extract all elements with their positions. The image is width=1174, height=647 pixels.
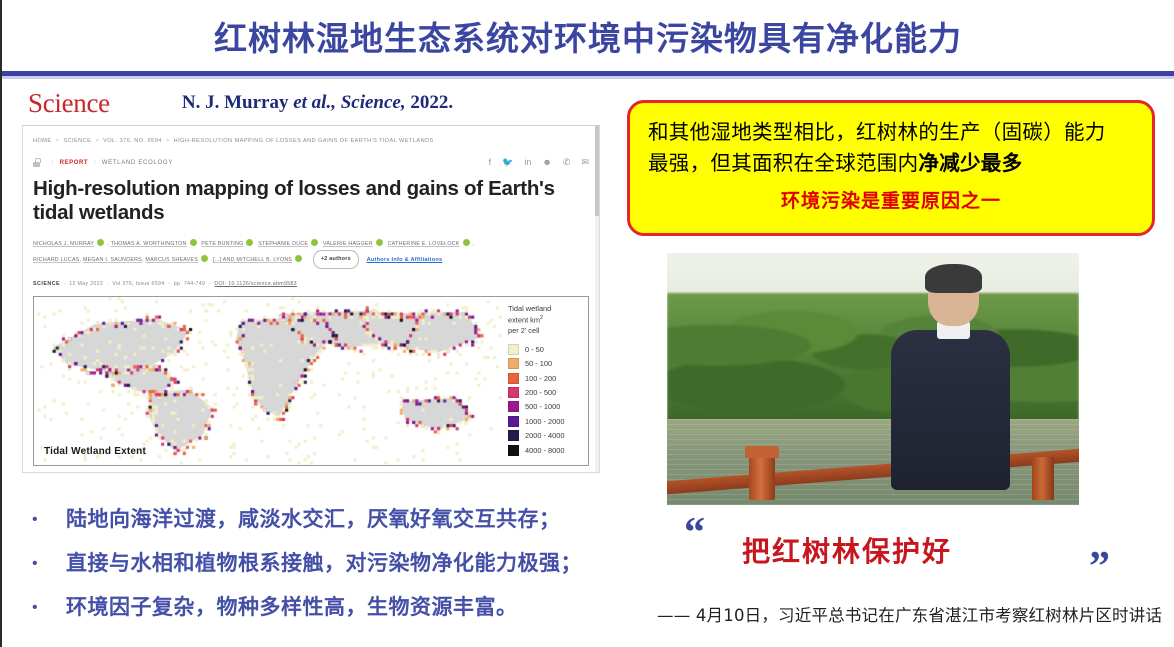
legend-swatch <box>508 416 519 427</box>
paper-citation-caption: N. J. Murray et al., Science, 2022. <box>182 92 453 114</box>
railing-post-secondary <box>1032 457 1054 500</box>
legend-item: 50 - 100 <box>508 358 588 369</box>
cite-pages: pp. 744-749 <box>174 281 206 287</box>
bullet-marker: • <box>32 596 66 616</box>
cite-journal: SCIENCE <box>33 281 60 287</box>
author-link[interactable]: NICHOLAS J. MURRAY <box>33 241 94 247</box>
page-title: 红树林湿地生态系统对环境中污染物具有净化能力 <box>214 12 962 60</box>
breadcrumb-item-0[interactable]: HOME <box>33 138 52 144</box>
cite-volume: Vol 376, Issue 6594 <box>112 281 164 287</box>
orcid-icon <box>201 255 208 262</box>
slide-root: 红树林湿地生态系统对环境中污染物具有净化能力 Science N. J. Mur… <box>2 0 1174 647</box>
legend-label: 500 - 1000 <box>525 402 560 411</box>
callout-text-2: 最强，但其面积在全球范围内 <box>648 151 918 175</box>
bullet-text: 陆地向海洋过渡，咸淡水交汇，厌氧好氧交互共存； <box>66 508 561 531</box>
legend-swatch <box>508 387 519 398</box>
citation-italic: et al., Science, <box>293 92 405 113</box>
person-hair <box>925 264 982 293</box>
lock-icon <box>33 158 40 167</box>
legend-label: 2000 - 4000 <box>525 431 564 440</box>
list-item: • 陆地向海洋过渡，咸淡水交汇，厌氧好氧交互共存； <box>32 508 622 531</box>
legend-item: 0 - 50 <box>508 344 588 355</box>
author-link[interactable]: RICHARD LUCAS <box>33 257 80 263</box>
quote-attribution: —— 4月10日，习近平总书记在广东省湛江市考察红树林片区时讲话 <box>657 602 1157 626</box>
wechat-icon[interactable]: ✆ <box>563 158 571 167</box>
world-map: Tidal Wetland Extent <box>34 297 502 465</box>
breadcrumb: HOME>SCIENCE>VOL. 376, NO. 6594>HIGH-RES… <box>23 126 599 144</box>
science-logo: Science <box>28 90 110 117</box>
tidal-wetland-map-figure: Tidal Wetland Extent Tidal wetland exten… <box>33 296 589 466</box>
breadcrumb-item-1[interactable]: SCIENCE <box>63 138 91 144</box>
legend-item: 1000 - 2000 <box>508 416 588 427</box>
reddit-icon[interactable]: ☻ <box>542 158 551 167</box>
citation-prefix: N. J. Murray <box>182 92 293 113</box>
bullet-text: 直接与水相和植物根系接触，对污染物净化能力极强； <box>66 552 582 575</box>
legend-swatch <box>508 445 519 456</box>
author-row-tail[interactable]: [...] AND MITCHELL B. LYONS <box>213 257 292 263</box>
legend-title-line-3: per 2' cell <box>508 326 539 335</box>
quote-close-icon: ” <box>1089 546 1110 588</box>
breadcrumb-item-3[interactable]: HIGH-RESOLUTION MAPPING OF LOSSES AND GA… <box>174 138 434 144</box>
list-item: • 环境因子复杂，物种多样性高，生物资源丰富。 <box>32 596 622 619</box>
citation-line: SCIENCE · 12 May 2022 · Vol 376, Issue 6… <box>23 269 599 287</box>
divider: | <box>52 160 54 166</box>
callout-line-2: 最强，但其面积在全球范围内净减少最多 <box>648 148 1134 179</box>
divider: | <box>94 160 96 166</box>
legend-label: 1000 - 2000 <box>525 417 564 426</box>
author-link[interactable]: STEPHANIE DUCE <box>258 241 308 247</box>
world-map-canvas <box>34 297 502 465</box>
legend-item: 2000 - 4000 <box>508 430 588 441</box>
photo-person <box>885 268 1021 490</box>
legend-title-line-1: Tidal wetland <box>508 304 551 313</box>
email-icon[interactable]: ✉ <box>581 158 589 167</box>
author-link[interactable]: PETE BUNTING <box>201 241 243 247</box>
title-divider-shadow <box>2 76 1174 79</box>
callout-line-1: 和其他湿地类型相比，红树林的生产（固碳）能力 <box>648 117 1134 148</box>
slide-title-bar: 红树林湿地生态系统对环境中污染物具有净化能力 <box>2 10 1174 62</box>
map-legend: Tidal wetland extent km2 per 2' cell 0 -… <box>502 297 588 465</box>
affiliations-link[interactable]: Authors Info & Affiliations <box>367 257 443 263</box>
map-label: Tidal Wetland Extent <box>44 446 146 457</box>
orcid-icon <box>295 255 302 262</box>
doi-link[interactable]: DOI: 10.1126/science.abm9583 <box>214 281 297 287</box>
paper-title: High-resolution mapping of losses and ga… <box>23 167 599 225</box>
author-link[interactable]: CATHERINE E. LOVELOCK <box>388 241 460 247</box>
legend-swatch <box>508 430 519 441</box>
callout-emphasis: 净减少最多 <box>918 151 1022 175</box>
railing-post <box>749 453 775 500</box>
orcid-icon <box>463 239 470 246</box>
list-item: • 直接与水相和植物根系接触，对污染物净化能力极强； <box>32 552 622 575</box>
orcid-icon <box>376 239 383 246</box>
legend-title-line-2: extent km <box>508 315 540 324</box>
author-list: NICHOLAS J. MURRAY, THOMAS A. WORTHINGTO… <box>23 225 599 269</box>
yellow-callout-box: 和其他湿地类型相比，红树林的生产（固碳）能力 最强，但其面积在全球范围内净减少最… <box>627 100 1155 236</box>
orcid-icon <box>246 239 253 246</box>
quote-block: “ 把红树林保护好 ” <box>702 528 1122 590</box>
quote-open-icon: “ <box>684 512 705 554</box>
legend-item: 200 - 500 <box>508 387 588 398</box>
orcid-icon <box>190 239 197 246</box>
legend-title: Tidal wetland extent km2 per 2' cell <box>508 304 588 337</box>
legend-item: 500 - 1000 <box>508 401 588 412</box>
facebook-icon[interactable]: f <box>489 158 492 167</box>
scrollbar[interactable] <box>595 126 599 472</box>
orcid-icon <box>97 239 104 246</box>
legend-label: 0 - 50 <box>525 345 544 354</box>
legend-title-sup: 2 <box>540 315 543 321</box>
legend-label: 4000 - 8000 <box>525 446 564 455</box>
article-section-tag[interactable]: WETLAND ECOLOGY <box>102 160 173 166</box>
person-body <box>891 330 1011 490</box>
legend-swatch <box>508 344 519 355</box>
author-row-2: RICHARD LUCAS, MEGAN I. SAUNDERS, MARCUS… <box>33 250 589 269</box>
author-link[interactable]: THOMAS A. WORTHINGTON <box>111 241 187 247</box>
paper-title-line-2: tidal wetlands <box>33 201 585 225</box>
legend-swatch <box>508 358 519 369</box>
paper-header-row: Science N. J. Murray et al., Science, 20… <box>22 86 607 120</box>
social-share-row: f 🐦 in ☻ ✆ ✉ <box>489 158 589 167</box>
article-type-tag[interactable]: REPORT <box>60 160 89 166</box>
legend-swatch <box>508 401 519 412</box>
author-link[interactable]: MEGAN I. SAUNDERS <box>83 257 142 263</box>
bullet-marker: • <box>32 552 66 572</box>
author-link[interactable]: VALERIE HAGGER <box>323 241 373 247</box>
legend-swatch <box>508 373 519 384</box>
article-meta-row: | REPORT | WETLAND ECOLOGY f 🐦 in ☻ ✆ ✉ <box>23 144 599 167</box>
legend-item: 4000 - 8000 <box>508 445 588 456</box>
cite-date: 12 May 2022 <box>69 281 103 287</box>
breadcrumb-item-2[interactable]: VOL. 376, NO. 6594 <box>103 138 162 144</box>
callout-text-1: 和其他湿地类型相比，红树林的生产（固碳）能力 <box>648 120 1106 144</box>
legend-label: 50 - 100 <box>525 359 552 368</box>
linkedin-icon[interactable]: in <box>524 158 531 167</box>
xi-jinping-mangrove-photo <box>667 253 1079 505</box>
paper-screenshot-panel: Science N. J. Murray et al., Science, 20… <box>22 86 607 473</box>
twitter-icon[interactable]: 🐦 <box>502 158 513 167</box>
callout-red-line: 环境污染是重要原因之一 <box>648 187 1134 216</box>
bullet-text: 环境因子复杂，物种多样性高，生物资源丰富。 <box>66 596 518 619</box>
author-link[interactable]: MARCUS SHEAVES <box>145 257 198 263</box>
bullet-list: • 陆地向海洋过渡，咸淡水交汇，厌氧好氧交互共存； • 直接与水相和植物根系接触… <box>32 508 622 640</box>
legend-label: 100 - 200 <box>525 374 556 383</box>
legend-item: 100 - 200 <box>508 373 588 384</box>
orcid-icon <box>311 239 318 246</box>
citation-suffix: 2022. <box>406 92 454 113</box>
plus-authors-button[interactable]: +2 authors <box>313 250 359 269</box>
author-row-1: NICHOLAS J. MURRAY, THOMAS A. WORTHINGTO… <box>33 238 589 250</box>
bullet-marker: • <box>32 508 66 528</box>
quote-text: 把红树林保护好 <box>742 530 952 570</box>
legend-label: 200 - 500 <box>525 388 556 397</box>
paper-webpage-capture: HOME>SCIENCE>VOL. 376, NO. 6594>HIGH-RES… <box>22 125 600 473</box>
paper-title-line-1: High-resolution mapping of losses and ga… <box>33 177 585 201</box>
